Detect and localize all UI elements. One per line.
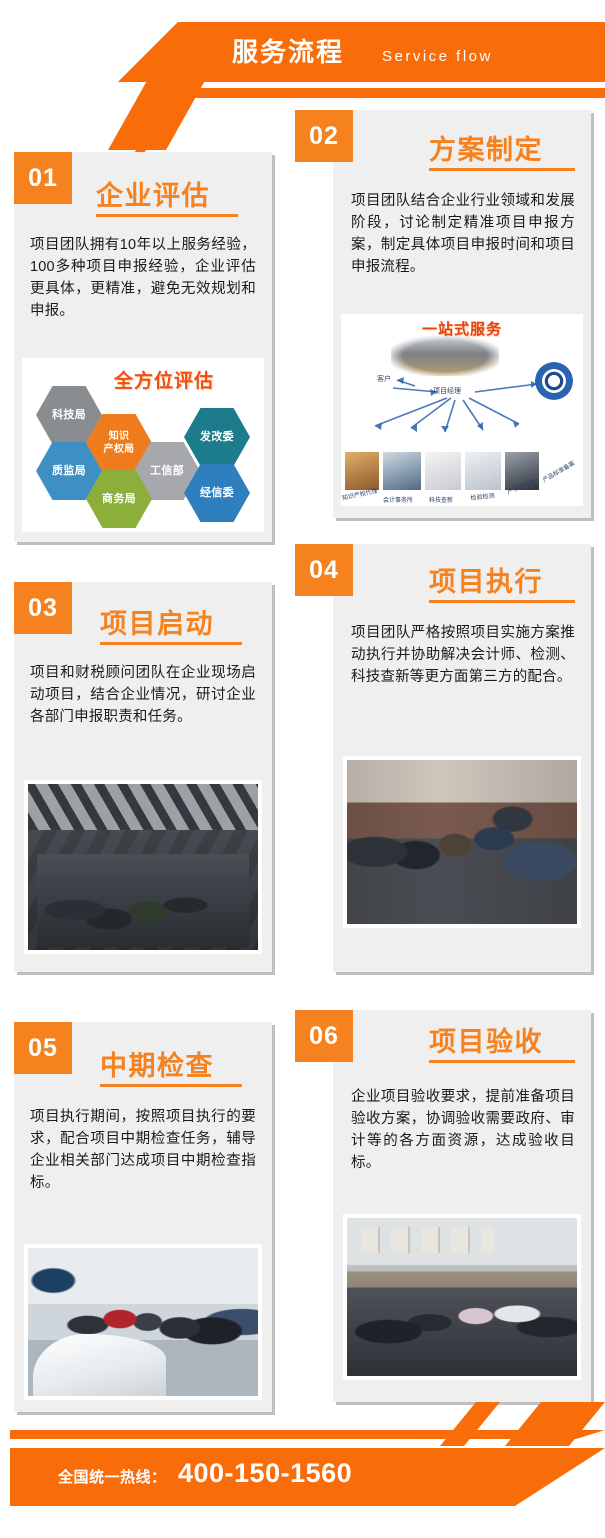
card-photo-04 (343, 756, 581, 928)
card-title-02: 方案制定 (429, 128, 543, 167)
card-body-03: 项目和财税顾问团队在企业现场启动项目，结合企业情况，研讨企业各部门申报职责和任务… (30, 662, 256, 728)
hex-fagaiwei: 发改委 (184, 408, 250, 466)
service-flow-node-manager: 项目经理 (433, 386, 461, 396)
service-flow-thumb-4 (465, 452, 501, 490)
step-badge-05: 05 (14, 1022, 72, 1074)
step-card-05: 中期检查 项目执行期间，按照项目执行的要求，配合项目中期检查任务，辅导企业相关部… (14, 1022, 272, 1412)
page-subtitle: Service flow (382, 42, 493, 72)
step-card-04: 项目执行 项目团队严格按照项目实施方案推动执行并协助解决会计师、检测、科技查新等… (333, 544, 591, 972)
step-card-03: 项目启动 项目和财税顾问团队在企业现场启动项目，结合企业情况，研讨企业各部门申报… (14, 582, 272, 972)
step-badge-03: 03 (14, 582, 72, 634)
card-body-04: 项目团队严格按照项目实施方案推动执行并协助解决会计师、检测、科技查新等更方面第三… (351, 622, 575, 688)
step-card-06: 项目验收 企业项目验收要求，提前准备项目验收方案，协调验收需要政府、审计等的各方… (333, 1010, 591, 1402)
step-badge-01: 01 (14, 152, 72, 204)
card-underline-05 (100, 1084, 242, 1087)
infographic-page: 服务流程 Service flow 企业评估 项目团队拥有10年以上服务经验，1… (0, 0, 605, 1538)
card-underline-03 (100, 642, 242, 645)
hotline-label: 全国统一热线： (58, 1466, 167, 1487)
card-photo-06 (343, 1214, 581, 1380)
card-body-05: 项目执行期间，按照项目执行的要求，配合项目中期检查任务，辅导企业相关部门达成项目… (30, 1106, 256, 1194)
page-header: 服务流程 Service flow (0, 0, 605, 120)
card-photo-05 (24, 1244, 262, 1400)
service-flow-node-customer: 客户 (377, 374, 391, 384)
card-photo-03 (24, 780, 262, 954)
service-flow-thumb-3 (425, 452, 461, 490)
card-title-03: 项目启动 (100, 602, 214, 641)
card-title-06: 项目验收 (429, 1020, 543, 1059)
card-body-02: 项目团队结合企业行业领域和发展阶段，讨论制定精准项目申报方案，制定具体项目申报时… (351, 190, 575, 278)
header-thin-stripe (148, 88, 605, 98)
service-flow-thumb-1 (345, 452, 379, 490)
card-title-05: 中期检查 (100, 1044, 214, 1083)
step-badge-06: 06 (295, 1010, 353, 1062)
page-footer: 全国统一热线： 400-150-1560 (0, 1430, 605, 1538)
card-underline-06 (429, 1060, 575, 1063)
card-title-01: 企业评估 (96, 174, 210, 213)
card-body-06: 企业项目验收要求，提前准备项目验收方案，协调验收需要政府、审计等的各方面资源，达… (351, 1086, 575, 1174)
step-card-01: 企业评估 项目团队拥有10年以上服务经验，100多种项目申报经验，企业评估更具体… (14, 152, 272, 542)
step-badge-02: 02 (295, 110, 353, 162)
card-underline-04 (429, 600, 575, 603)
hotline-number[interactable]: 400-150-1560 (178, 1458, 352, 1489)
service-flow-label-2: 会计事务所 (383, 495, 413, 504)
hex-diagram-caption: 全方位评估 (114, 366, 214, 393)
service-flow-thumb-2 (383, 452, 421, 490)
card-body-01: 项目团队拥有10年以上服务经验，100多种项目申报经验，企业评估更具体，更精准，… (30, 234, 256, 322)
card-underline-02 (429, 168, 575, 171)
service-flow-label-3: 科技查新 (429, 495, 453, 504)
step-badge-04: 04 (295, 544, 353, 596)
page-title: 服务流程 (232, 32, 344, 72)
service-flow-diagram-02: 一站式服务 (341, 314, 583, 506)
hex-diagram-01: 全方位评估 科技局 知识产权局 发改委 质监局 工信部 商务局 经信委 (22, 358, 264, 532)
card-underline-01 (96, 214, 238, 217)
step-card-02: 方案制定 项目团队结合企业行业领域和发展阶段，讨论制定精准项目申报方案，制定具体… (333, 110, 591, 518)
card-title-04: 项目执行 (429, 560, 543, 599)
